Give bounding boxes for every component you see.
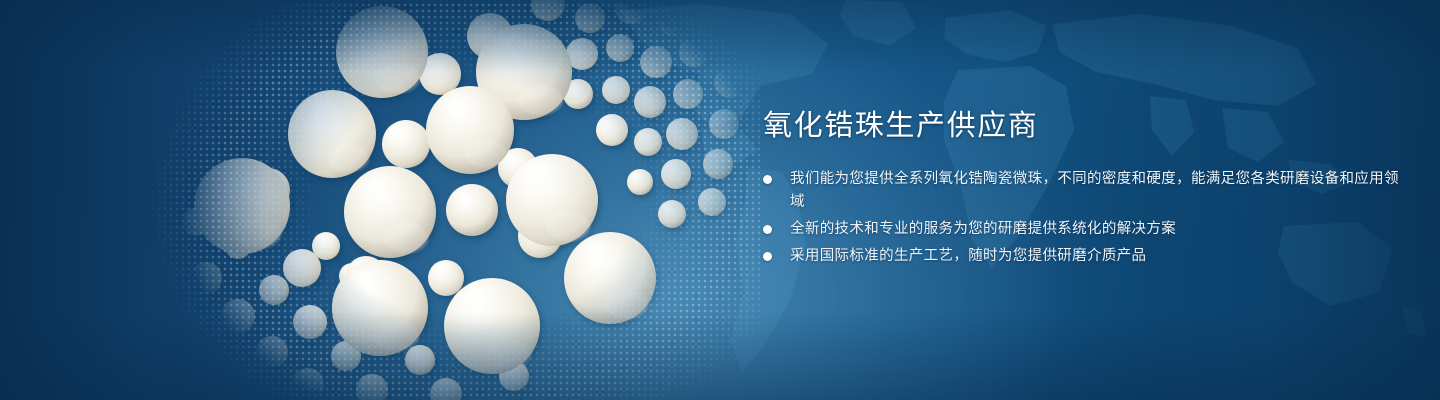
banner-copy: 氧化锆珠生产供应商 我们能为您提供全系列氧化锆陶瓷微珠，不同的密度和硬度，能满足… — [763, 108, 1403, 272]
bullet-dot-icon — [763, 225, 772, 234]
list-item-label: 我们能为您提供全系列氧化锆陶瓷微珠，不同的密度和硬度，能满足您各类研磨设备和应用… — [790, 171, 1399, 210]
list-item: 采用国际标准的生产工艺，随时为您提供研磨介质产品 — [763, 245, 1403, 268]
bullet-dot-icon — [763, 175, 772, 184]
list-item-label: 全新的技术和专业的服务为您的研磨提供系统化的解决方案 — [790, 221, 1176, 237]
bullet-dot-icon — [763, 252, 772, 261]
list-item: 我们能为您提供全系列氧化锆陶瓷微珠，不同的密度和硬度，能满足您各类研磨设备和应用… — [763, 168, 1403, 214]
feature-list: 我们能为您提供全系列氧化锆陶瓷微珠，不同的密度和硬度，能满足您各类研磨设备和应用… — [763, 168, 1403, 268]
page-title: 氧化锆珠生产供应商 — [763, 108, 1403, 144]
list-item: 全新的技术和专业的服务为您的研磨提供系统化的解决方案 — [763, 218, 1403, 241]
hero-banner: 氧化锆珠生产供应商 我们能为您提供全系列氧化锆陶瓷微珠，不同的密度和硬度，能满足… — [0, 0, 1440, 400]
list-item-label: 采用国际标准的生产工艺，随时为您提供研磨介质产品 — [790, 248, 1146, 264]
